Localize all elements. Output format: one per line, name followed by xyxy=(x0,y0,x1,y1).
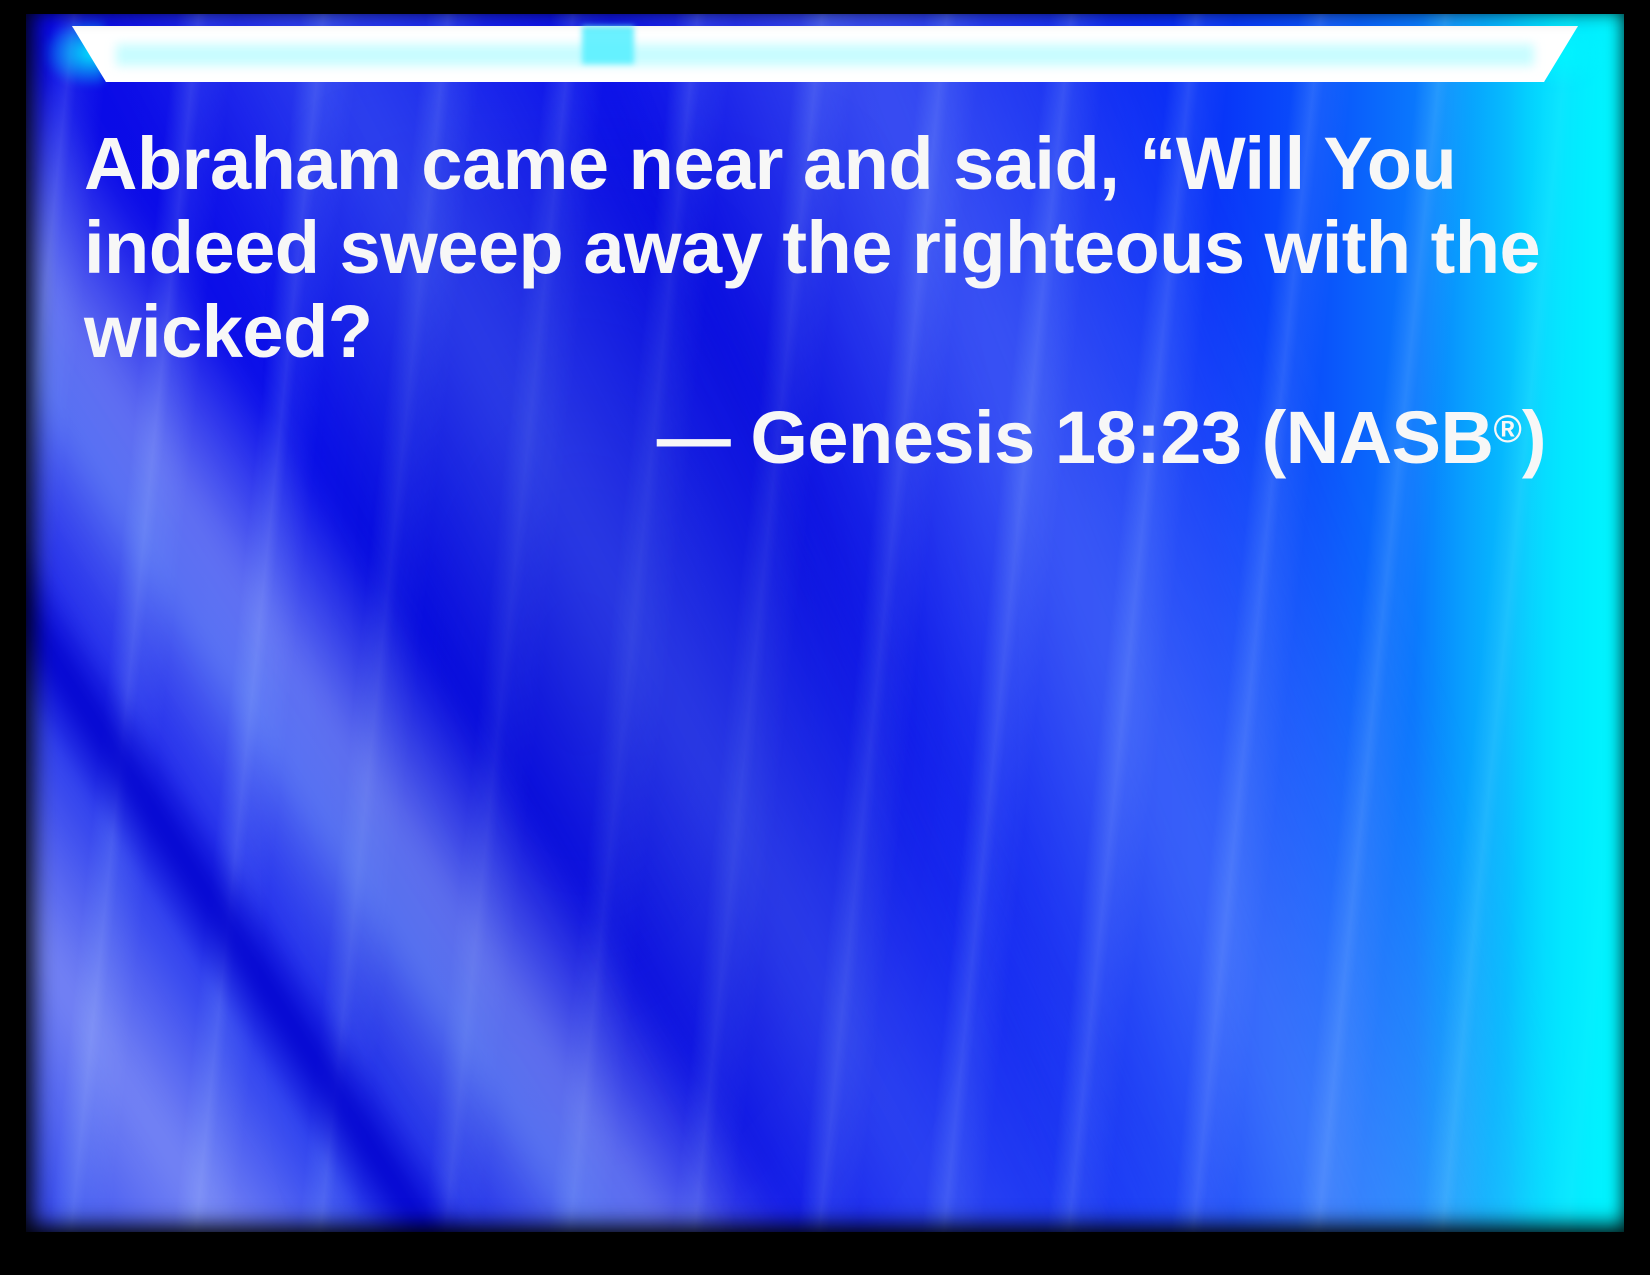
top-glow-bar-notch xyxy=(582,26,634,64)
attribution-dash: — xyxy=(657,396,731,479)
attribution-translation-close: ) xyxy=(1522,396,1546,479)
verse-text-block: Abraham came near and said, “Will You in… xyxy=(84,122,1544,374)
slide-frame: Abraham came near and said, “Will You in… xyxy=(0,0,1650,1275)
top-glow-bar-inner-highlight xyxy=(116,44,1534,66)
verse-line-3: wicked? xyxy=(84,290,1544,374)
verse-line-2: indeed sweep away the righteous with the xyxy=(84,206,1544,290)
top-glow-bar xyxy=(26,14,1624,98)
verse-attribution: — Genesis 18:23 (NASB®) xyxy=(84,384,1546,484)
verse-line-1: Abraham came near and said, “Will You xyxy=(84,122,1544,206)
attribution-translation-open: (NASB xyxy=(1262,396,1494,479)
attribution-chapter-verse: 18:23 xyxy=(1055,396,1242,479)
registered-trademark-icon: ® xyxy=(1493,408,1521,451)
slide-canvas: Abraham came near and said, “Will You in… xyxy=(26,14,1624,1232)
attribution-book: Genesis xyxy=(750,396,1034,479)
